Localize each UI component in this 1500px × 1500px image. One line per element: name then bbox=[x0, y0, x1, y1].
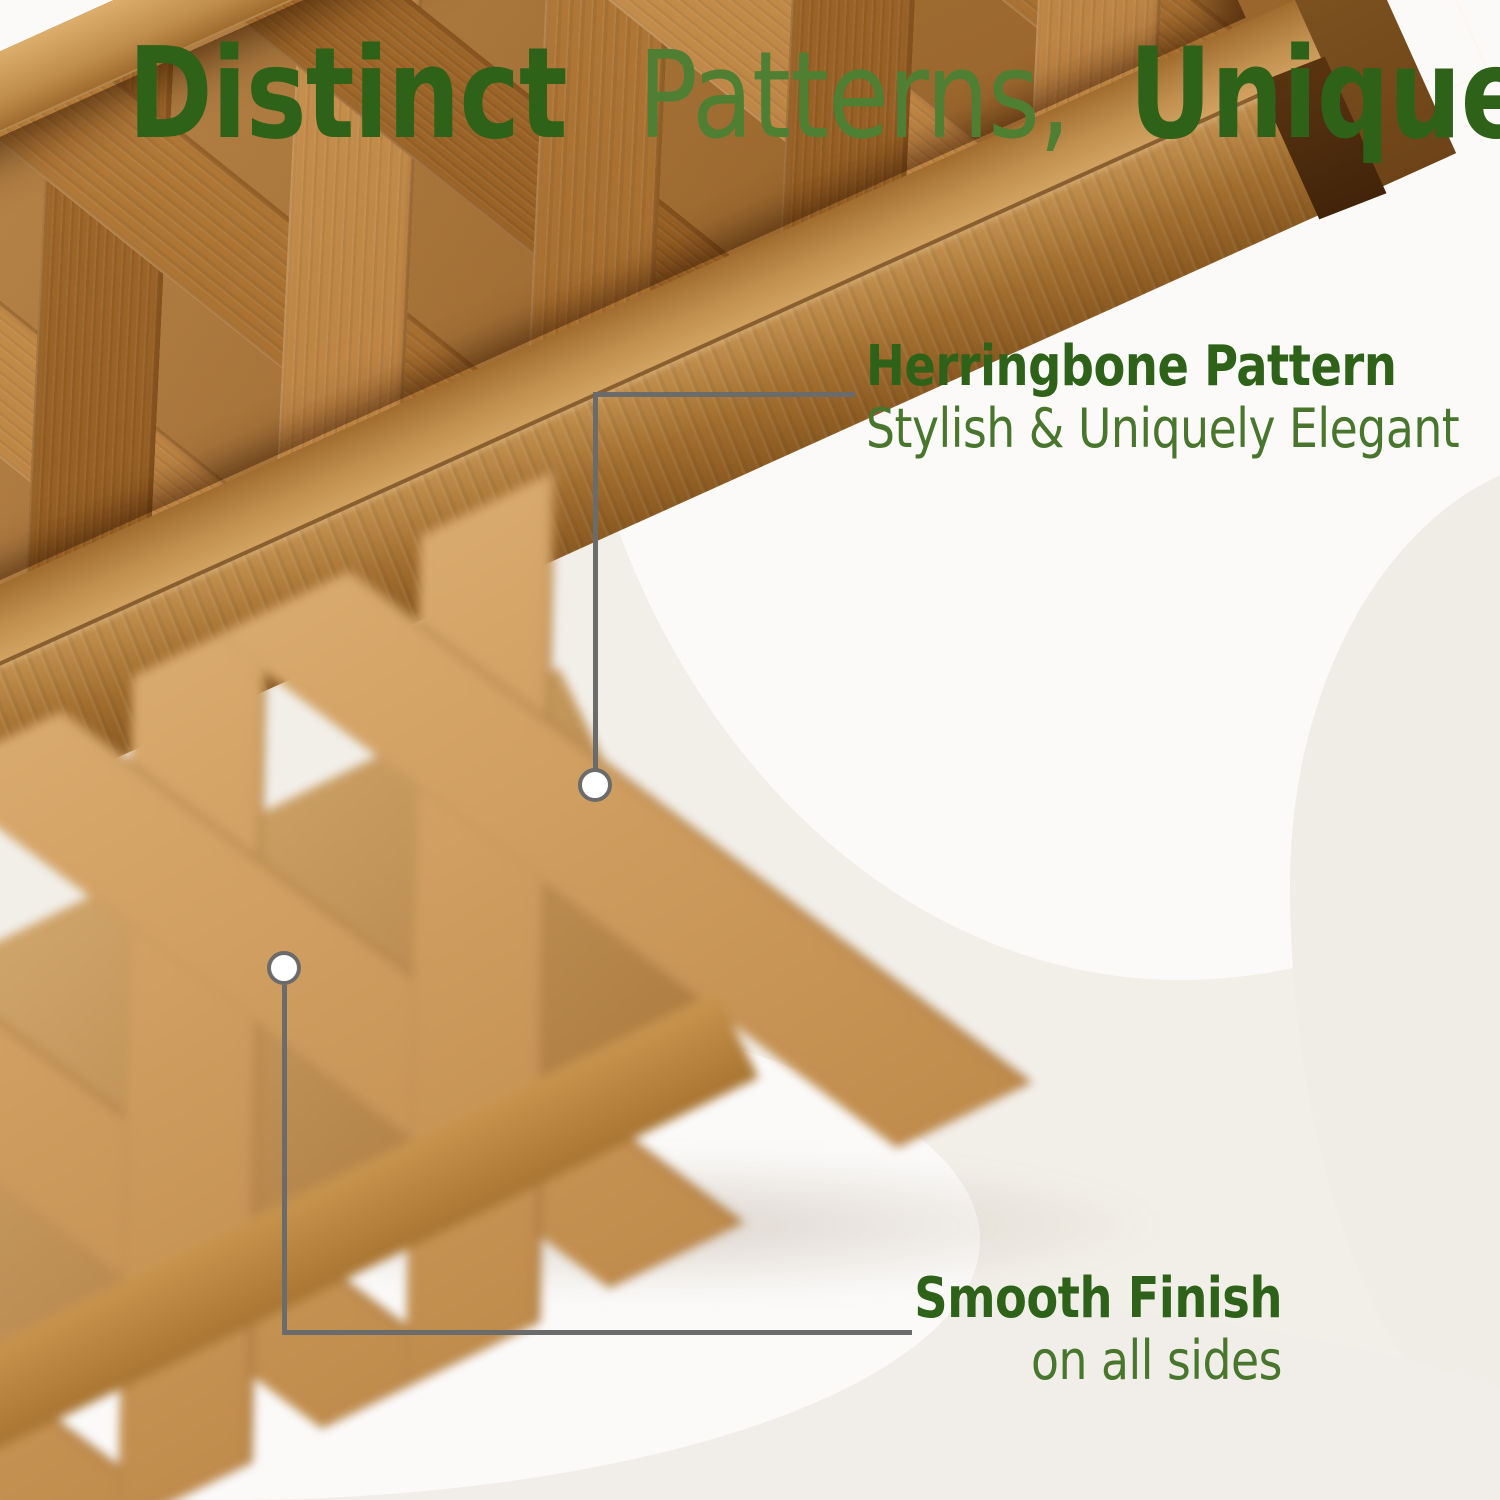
callout-subtitle-herringbone: Stylish & Uniquely Elegant bbox=[866, 398, 1459, 460]
infographic-canvas: DistinctPatterns,UniqueStyle Herringbone… bbox=[0, 0, 1500, 1500]
callout-marker-herringbone bbox=[578, 768, 612, 802]
callout-title-herringbone: Herringbone Pattern bbox=[866, 336, 1447, 398]
callout-text-herringbone: Herringbone Pattern Stylish & Uniquely E… bbox=[866, 336, 1497, 460]
callout-layer: Herringbone Pattern Stylish & Uniquely E… bbox=[0, 0, 1500, 1500]
callout-marker-smooth-finish bbox=[267, 951, 301, 985]
callout-title-smooth-finish: Smooth Finish bbox=[693, 1268, 1282, 1330]
callout-text-smooth-finish: Smooth Finish on all sides bbox=[642, 1268, 1282, 1392]
callout-leader-horizontal-herringbone bbox=[593, 392, 855, 397]
callout-leader-vertical-smooth-finish bbox=[282, 985, 287, 1335]
callout-subtitle-smooth-finish: on all sides bbox=[680, 1330, 1282, 1392]
callout-leader-vertical-herringbone bbox=[593, 392, 598, 774]
